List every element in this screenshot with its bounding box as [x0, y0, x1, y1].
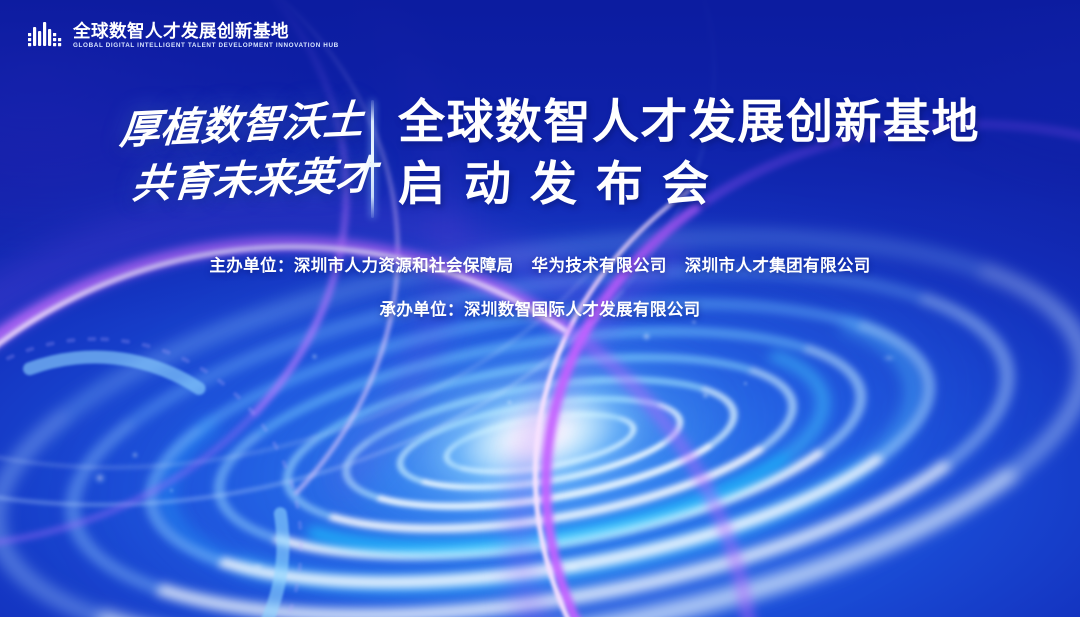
host-label: 主办单位： [209, 257, 294, 275]
brand-name-en: GLOBAL DIGITAL INTELLIGENT TALENT DEVELO… [73, 43, 339, 49]
headline-line-1: 全球数智人才发展创新基地 [398, 98, 980, 145]
brand-logo-lockup[interactable]: 全球数智人才发展创新基地 GLOBAL DIGITAL INTELLIGENT … [28, 22, 334, 50]
slogan-calligraphy: 厚植数智沃土 共育未来英才 [118, 96, 366, 216]
host-unit: 深圳市人才集团有限公司 [685, 257, 871, 275]
slogan-line-2: 共育未来英才 [130, 143, 379, 210]
host-unit: 深圳市人力资源和社会保障局 [294, 257, 514, 275]
event-banner: 全球数智人才发展创新基地 GLOBAL DIGITAL INTELLIGENT … [0, 0, 1080, 617]
headline-line-2: 启动发布会 [398, 160, 980, 207]
organizer-unit: 深圳数智国际人才发展有限公司 [464, 301, 701, 319]
organizer-label: 承办单位： [379, 301, 464, 319]
host-unit: 华为技术有限公司 [532, 257, 667, 275]
page-title: 全球数智人才发展创新基地 启动发布会 [398, 98, 980, 207]
brand-name-cn: 全球数智人才发展创新基地 [73, 23, 334, 41]
equalizer-bars-icon [28, 22, 62, 50]
organizer-units-line: 承办单位：深圳数智国际人才发展有限公司 [0, 296, 1080, 320]
host-units-line: 主办单位：深圳市人力资源和社会保障局华为技术有限公司深圳市人才集团有限公司 [0, 252, 1080, 276]
title-divider [371, 100, 374, 218]
